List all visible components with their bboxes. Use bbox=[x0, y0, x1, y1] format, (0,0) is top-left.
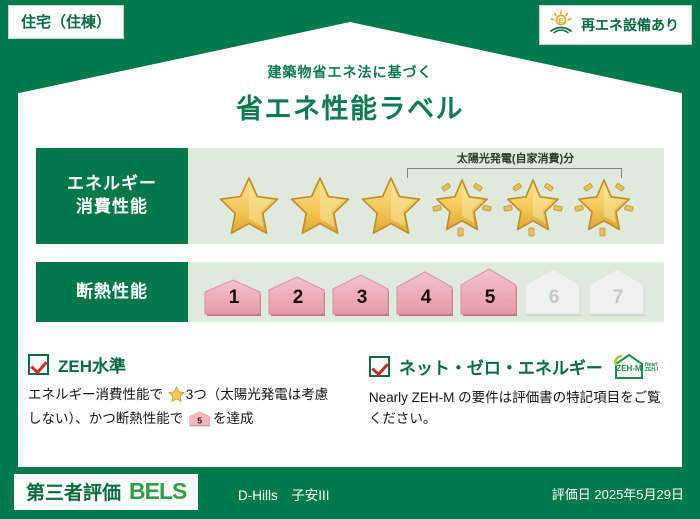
building-type-label: 住宅（住棟） bbox=[21, 14, 111, 31]
page-title: 建築物省エネ法に基づく 省エネ性能ラベル bbox=[0, 62, 700, 126]
grade-number: 5 bbox=[459, 287, 521, 309]
evaluation-date: 評価日 2025年5月29日 bbox=[552, 484, 684, 503]
checkbox-checked-icon bbox=[369, 356, 390, 377]
zeh-sections: ZEH水準 エネルギー消費性能で 3つ（太陽光発電は考慮しない）、かつ断熱性能で… bbox=[28, 352, 672, 434]
svg-text:ZEH-M: ZEH-M bbox=[645, 367, 658, 373]
net-zero-header: ネット・ゼロ・エネルギー ZEH-M Nearly ZEH-M bbox=[369, 352, 672, 380]
net-zero-text: Nearly ZEH-M の要件は評価書の特記項目をご覧ください。 bbox=[369, 388, 672, 430]
checkbox-checked-icon bbox=[28, 354, 49, 375]
zeh-standard-section: ZEH水準 エネルギー消費性能で 3つ（太陽光発電は考慮しない）、かつ断熱性能で… bbox=[28, 352, 341, 434]
energy-label-line1: エネルギー bbox=[67, 173, 157, 196]
grade-badge: 5 bbox=[459, 263, 521, 318]
insulation-performance-row: 断熱性能 1 bbox=[36, 262, 664, 322]
energy-performance-row: エネルギー 消費性能 太陽光発電(自家消費)分 bbox=[36, 148, 664, 244]
renewable-badge-label: 再エネ設備あり bbox=[581, 15, 679, 35]
inline-star-icon bbox=[164, 390, 185, 405]
energy-label-line2: 消費性能 bbox=[76, 196, 148, 219]
zeh-standard-text: エネルギー消費性能で 3つ（太陽光発電は考慮しない）、かつ断熱性能で 5 を達成 bbox=[28, 385, 341, 434]
insulation-label-text: 断熱性能 bbox=[76, 281, 148, 304]
bels-jp-label: 第三者評価 bbox=[26, 478, 121, 505]
title-subtitle: 建築物省エネ法に基づく bbox=[0, 62, 700, 82]
grade-number: 3 bbox=[331, 287, 393, 309]
insulation-performance-value: 1 2 3 bbox=[188, 262, 664, 322]
solar-note-label: 太陽光発電(自家消費)分 bbox=[388, 150, 643, 166]
grade-number: 4 bbox=[395, 287, 457, 309]
grade-number: 7 bbox=[587, 287, 649, 309]
zeh-standard-title: ZEH水準 bbox=[58, 352, 126, 377]
net-zero-title: ネット・ゼロ・エネルギー bbox=[399, 354, 603, 379]
bels-certification-badge: 第三者評価 BELS bbox=[14, 474, 198, 510]
solar-bracket bbox=[407, 168, 622, 178]
star-icon bbox=[215, 170, 283, 240]
grade-number: 2 bbox=[267, 287, 329, 309]
bels-en-label: BELS bbox=[129, 478, 186, 505]
insulation-performance-label: 断熱性能 bbox=[36, 262, 188, 322]
footer-bar: 第三者評価 BELS D-Hills 子安III 評価日 2025年5月29日 bbox=[0, 467, 700, 519]
zeh-standard-header: ZEH水準 bbox=[28, 352, 341, 377]
svg-text:E: E bbox=[559, 18, 564, 25]
star-sparkle-icon bbox=[499, 170, 567, 240]
insulation-grade-scale: 1 2 3 bbox=[188, 262, 664, 322]
star-icon bbox=[286, 170, 354, 240]
energy-star-rating bbox=[188, 170, 664, 242]
energy-performance-value: 太陽光発電(自家消費)分 bbox=[188, 148, 664, 244]
star-sparkle-icon bbox=[570, 170, 638, 240]
building-type-tag: 住宅（住棟） bbox=[8, 5, 124, 39]
svg-text:ZEH-M: ZEH-M bbox=[616, 364, 642, 373]
star-sparkle-icon bbox=[428, 170, 496, 240]
grade-badge: 2 bbox=[267, 274, 329, 318]
building-name: D-Hills 子安III bbox=[238, 484, 330, 504]
zeh-text-part1: エネルギー消費性能で bbox=[28, 387, 163, 402]
grade-badge: 1 bbox=[203, 278, 265, 318]
grade-badge: 3 bbox=[331, 271, 393, 318]
solar-sun-icon: E bbox=[548, 10, 574, 39]
grade-number: 1 bbox=[203, 287, 265, 309]
grade-badge: 4 bbox=[395, 267, 457, 318]
star-icon bbox=[357, 170, 425, 240]
zeh-m-logo-icon: ZEH-M Nearly ZEH-M bbox=[612, 352, 658, 380]
inline-grade-badge: 5 bbox=[185, 415, 211, 430]
renewable-equipment-badge: E 再エネ設備あり bbox=[539, 5, 692, 45]
net-zero-energy-section: ネット・ゼロ・エネルギー ZEH-M Nearly ZEH-M Nearly Z… bbox=[359, 352, 672, 434]
grade-badge-inactive: 7 bbox=[587, 263, 649, 318]
energy-label-root: 住宅（住棟） E 再エネ設備あり 建築物省エネ法に基づく 省エネ性能ラベ bbox=[0, 0, 700, 519]
energy-performance-label: エネルギー 消費性能 bbox=[36, 148, 188, 244]
grade-badge-inactive: 6 bbox=[523, 263, 585, 318]
grade-number: 6 bbox=[523, 287, 585, 309]
svg-text:5: 5 bbox=[197, 416, 202, 426]
zeh-text-part3: を達成 bbox=[213, 411, 254, 426]
title-main: 省エネ性能ラベル bbox=[0, 87, 700, 126]
